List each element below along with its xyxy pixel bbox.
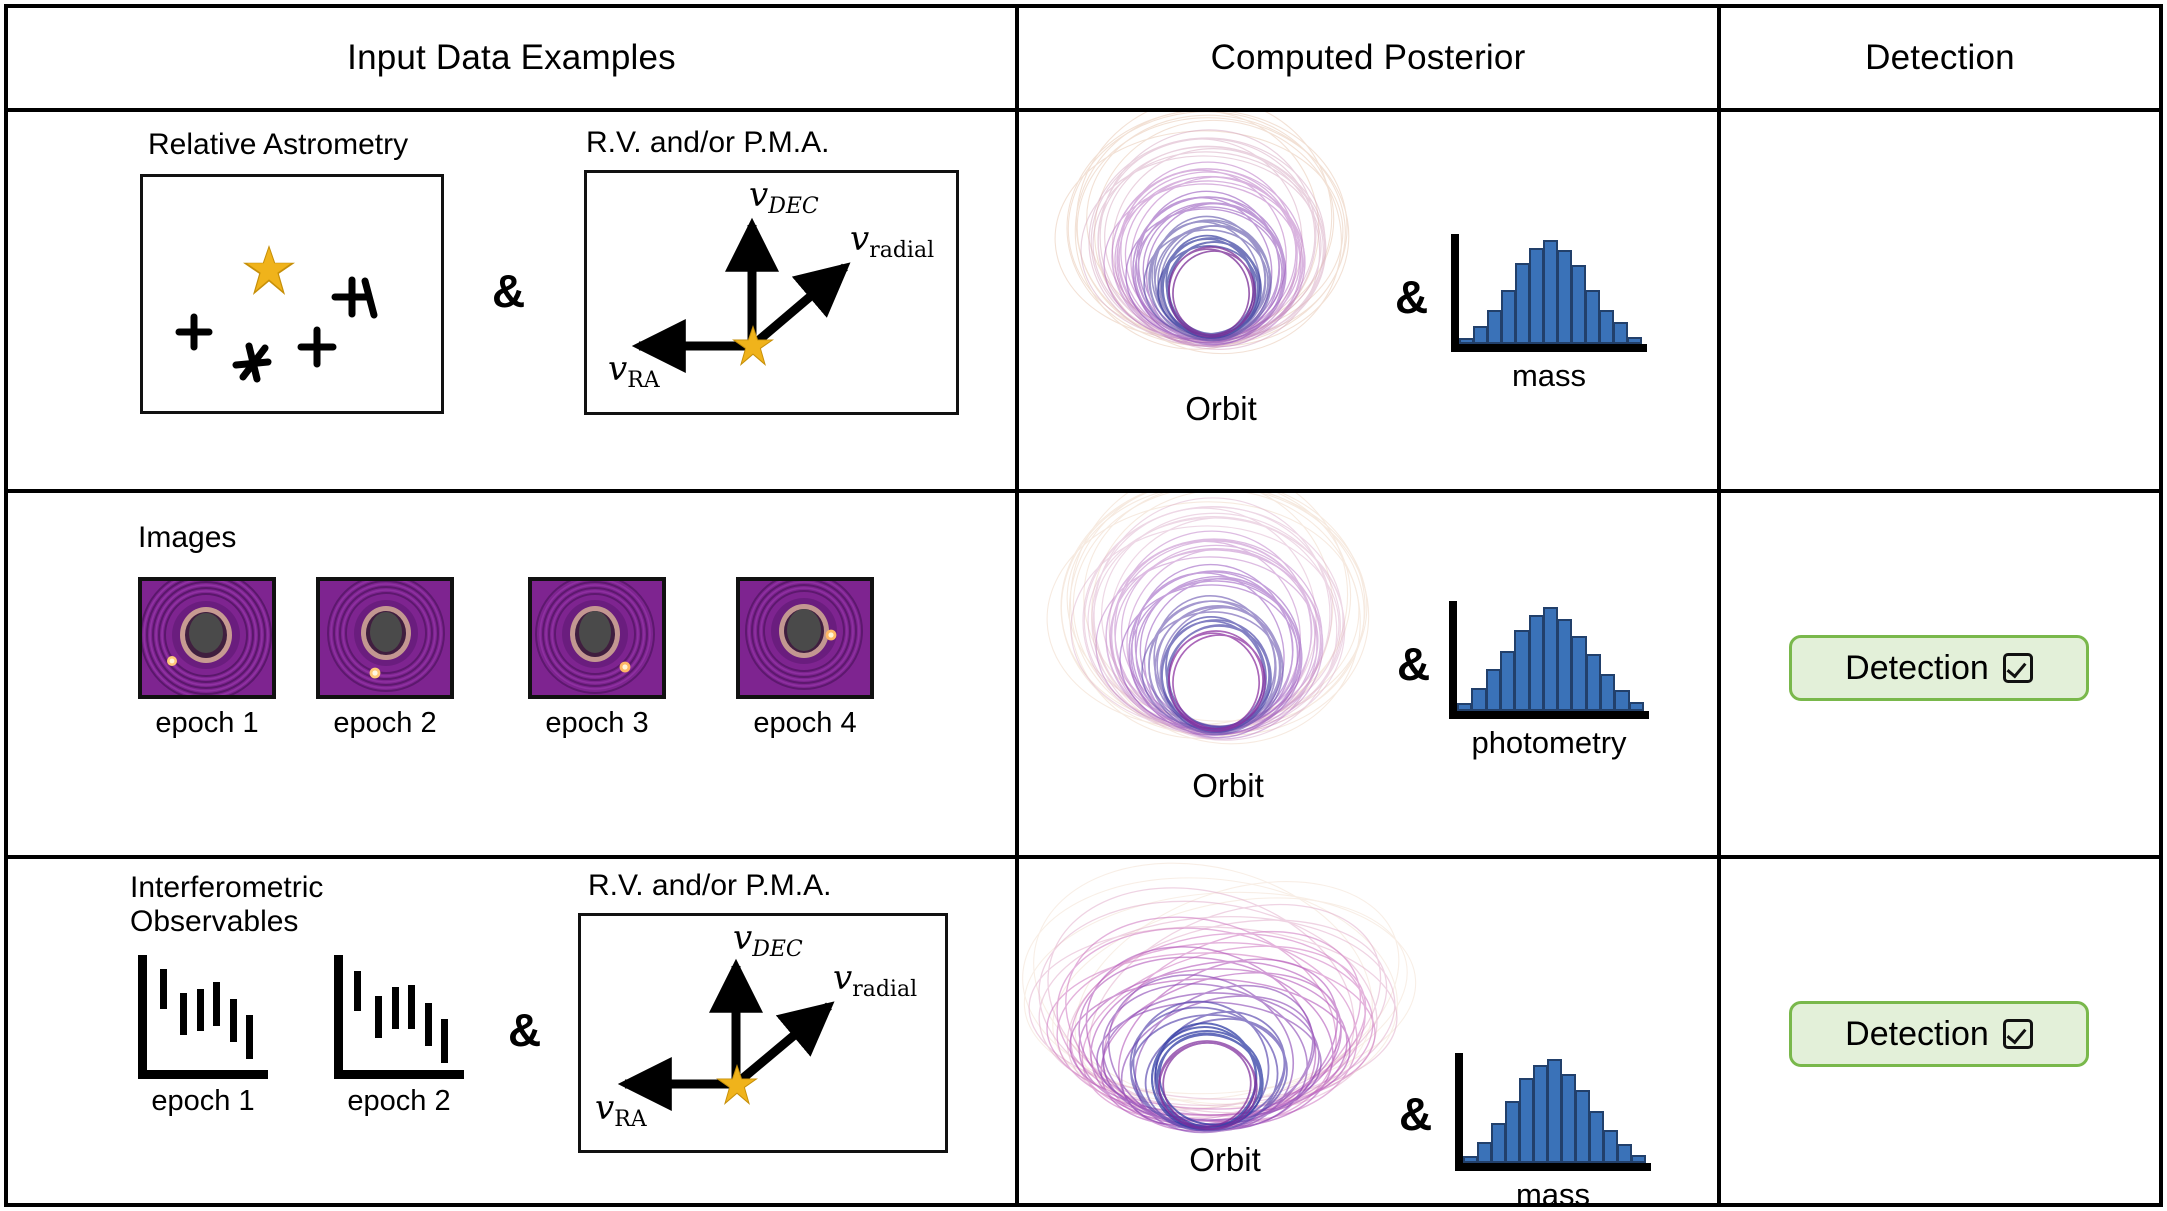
- histogram-bar: [1561, 1074, 1576, 1163]
- error-bar: [441, 1019, 448, 1063]
- row3-orbit-label: Orbit: [1019, 1141, 1445, 1179]
- row1-orbit-tracks: [1019, 112, 1431, 392]
- histogram-bar: [1599, 310, 1614, 344]
- row1-detection-cell: [1721, 112, 2159, 493]
- interferometric-x-axis: [138, 1070, 268, 1079]
- histogram-bar: [1459, 338, 1474, 344]
- row3-mass-histogram: mass: [1455, 1053, 1655, 1203]
- row2-detection-cell: Detection: [1721, 493, 2159, 859]
- figure-table: Input Data Examples Computed Posterior D…: [4, 4, 2163, 1207]
- row1-rv-pma-title: R.V. and/or P.M.A.: [586, 126, 829, 160]
- histogram-bar: [1529, 248, 1544, 344]
- histogram-bar: [1557, 250, 1572, 344]
- checkbox-checked-icon[interactable]: [2003, 653, 2033, 683]
- row1-conjunction-ampersand: &: [492, 264, 525, 318]
- histogram-bar: [1477, 1142, 1492, 1163]
- row1-histogram-label: mass: [1451, 358, 1647, 394]
- row2-orbit-label: Orbit: [1019, 767, 1443, 805]
- row1-v-ra-label: vRA: [608, 349, 660, 393]
- histogram-bar: [1471, 688, 1486, 711]
- error-bar: [408, 985, 415, 1029]
- row3-histogram-plot: [1455, 1053, 1651, 1171]
- histogram-bar: [1463, 1156, 1478, 1163]
- row3-detection-cell: Detection: [1721, 859, 2159, 1203]
- row1-orbit-plot: Orbit: [1019, 112, 1431, 428]
- row2-detection-label: Detection: [1845, 649, 1989, 688]
- row1-input-cell: Relative Astrometry: [8, 112, 1019, 493]
- header-label-input-data: Input Data Examples: [347, 38, 676, 78]
- coronagraph-image: [528, 577, 666, 699]
- error-bar: [160, 969, 167, 1009]
- companion-star-icon: [171, 309, 217, 355]
- coronagraph-image: [316, 577, 454, 699]
- histogram-bar: [1473, 326, 1488, 344]
- row3-interferometric-title: Interferometric Observables: [130, 871, 323, 938]
- coronagraph-speckles: [532, 581, 662, 695]
- histogram-bar: [1631, 1155, 1646, 1163]
- header-cell-computed-posterior: Computed Posterior: [1019, 8, 1721, 112]
- epoch-label: epoch 2: [334, 1085, 464, 1118]
- row3-v-dec-label: vDEC: [733, 918, 803, 962]
- histogram-bar: [1613, 322, 1628, 344]
- histogram-bar: [1600, 674, 1615, 711]
- row1-relative-astrometry-title: Relative Astrometry: [148, 128, 408, 162]
- row3-interferometric-epoch-1: epoch 1: [138, 955, 268, 1118]
- histogram-bar: [1589, 1111, 1604, 1163]
- row3-detection-label: Detection: [1845, 1015, 1989, 1054]
- histogram-bar: [1571, 636, 1586, 711]
- histogram-bar: [1617, 1144, 1632, 1163]
- row2-histogram-plot: [1449, 601, 1649, 719]
- epoch-label: epoch 4: [736, 707, 874, 740]
- row3-detection-badge[interactable]: Detection: [1789, 1001, 2089, 1067]
- row3-histogram-x-axis: [1455, 1163, 1651, 1171]
- row3-input-cell: Interferometric Observables epoch 1: [8, 859, 1019, 1203]
- coronagraph-image: [138, 577, 276, 699]
- epoch-label: epoch 1: [138, 707, 276, 740]
- row1-mass-histogram: mass: [1451, 234, 1651, 394]
- histogram-bar: [1575, 1090, 1590, 1163]
- header-label-computed-posterior: Computed Posterior: [1211, 38, 1526, 78]
- companion-star-icon: [227, 337, 279, 387]
- row2-epoch-4: epoch 4: [736, 577, 874, 740]
- row2-histogram-y-axis: [1449, 601, 1457, 719]
- error-bar: [425, 1003, 432, 1046]
- row3-histogram-y-axis: [1455, 1053, 1463, 1171]
- row3-rv-pma-frame: vDEC vradial vRA: [578, 913, 948, 1153]
- row3-posterior-cell: Orbit & mass: [1019, 859, 1721, 1203]
- checkbox-checked-icon[interactable]: [2003, 1019, 2033, 1049]
- interferometric-plot: [334, 955, 464, 1079]
- row2-photometry-histogram: photometry: [1449, 601, 1659, 761]
- epoch-label: epoch 1: [138, 1085, 268, 1118]
- row2-epoch-3: epoch 3: [528, 577, 666, 740]
- histogram-bar: [1571, 265, 1586, 344]
- histogram-bar: [1487, 310, 1502, 344]
- interferometric-y-axis: [138, 955, 147, 1079]
- row2-histogram-label: photometry: [1449, 725, 1649, 761]
- header-cell-input-data: Input Data Examples: [8, 8, 1019, 112]
- row2-posterior-cell: Orbit & photometry: [1019, 493, 1721, 859]
- error-bar: [246, 1015, 253, 1059]
- histogram-bar: [1557, 619, 1572, 711]
- row3-conjunction-ampersand: &: [508, 1003, 541, 1057]
- histogram-bar: [1486, 669, 1501, 711]
- interferometric-plot: [138, 955, 268, 1079]
- row1-relative-astrometry-frame: [140, 174, 444, 414]
- histogram-bar: [1627, 337, 1642, 344]
- histogram-bar: [1491, 1123, 1506, 1163]
- histogram-bar: [1501, 290, 1516, 344]
- error-bar: [180, 993, 187, 1035]
- row3-interferometric-epoch-2: epoch 2: [334, 955, 464, 1118]
- error-bar: [230, 999, 237, 1042]
- row2-posterior-conjunction-ampersand: &: [1397, 637, 1430, 691]
- companion-star-icon: [325, 271, 379, 323]
- epoch-label: epoch 3: [528, 707, 666, 740]
- row3-v-radial-label: vradial: [833, 958, 917, 1002]
- header-label-detection: Detection: [1865, 38, 2015, 78]
- coronagraph-speckles: [142, 581, 272, 695]
- row1-v-dec-label: vDEC: [749, 175, 819, 219]
- row1-orbit-label: Orbit: [1019, 390, 1431, 428]
- header-cell-detection: Detection: [1721, 8, 2159, 112]
- row1-v-radial-label: vradial: [850, 219, 934, 263]
- histogram-bar: [1586, 654, 1601, 711]
- row2-orbit-plot: Orbit: [1019, 493, 1443, 805]
- error-bar: [213, 982, 220, 1026]
- error-bar: [392, 987, 399, 1029]
- histogram-bar: [1547, 1059, 1562, 1163]
- histogram-bar: [1533, 1065, 1548, 1163]
- histogram-bar: [1514, 630, 1529, 711]
- histogram-bar: [1505, 1101, 1520, 1163]
- row1-rv-pma-frame: vDEC vradial vRA: [584, 170, 959, 415]
- error-bar: [197, 989, 204, 1031]
- row3-histogram-label: mass: [1455, 1177, 1651, 1203]
- epoch-label: epoch 2: [316, 707, 454, 740]
- row3-v-ra-label: vRA: [595, 1088, 647, 1132]
- histogram-bar: [1543, 607, 1558, 711]
- row1-posterior-cell: Orbit & mass: [1019, 112, 1721, 493]
- companion-star-icon: [293, 323, 341, 371]
- row3-orbit-tracks: [1019, 859, 1445, 1143]
- histogram-bar: [1629, 702, 1644, 711]
- row3-orbit-plot: Orbit: [1019, 859, 1445, 1179]
- row2-orbit-tracks: [1019, 493, 1443, 769]
- row1-histogram-y-axis: [1451, 234, 1459, 352]
- histogram-bar: [1543, 240, 1558, 344]
- row2-detection-badge[interactable]: Detection: [1789, 635, 2089, 701]
- histogram-bar: [1529, 615, 1544, 711]
- histogram-bar: [1585, 290, 1600, 344]
- interferometric-y-axis: [334, 955, 343, 1079]
- row2-input-cell: Images: [8, 493, 1019, 859]
- row2-epoch-1: epoch 1: [138, 577, 276, 740]
- row1-posterior-conjunction-ampersand: &: [1395, 270, 1428, 324]
- coronagraph-image: [736, 577, 874, 699]
- histogram-bar: [1603, 1130, 1618, 1163]
- row1-histogram-plot: [1451, 234, 1647, 352]
- row2-histogram-x-axis: [1449, 711, 1649, 719]
- histogram-bar: [1500, 651, 1515, 711]
- error-bar: [375, 996, 382, 1038]
- error-bar: [354, 971, 361, 1011]
- coronagraph-speckles: [320, 581, 450, 695]
- interferometric-x-axis: [334, 1070, 464, 1079]
- row3-posterior-conjunction-ampersand: &: [1399, 1087, 1432, 1141]
- row1-histogram-x-axis: [1451, 344, 1647, 352]
- coronagraph-speckles: [740, 581, 870, 695]
- histogram-bar: [1614, 690, 1629, 711]
- row2-epoch-2: epoch 2: [316, 577, 454, 740]
- histogram-bar: [1515, 263, 1530, 344]
- histogram-bar: [1457, 703, 1472, 711]
- row3-rv-pma-title: R.V. and/or P.M.A.: [588, 869, 831, 903]
- histogram-bar: [1519, 1078, 1534, 1163]
- row2-images-title: Images: [138, 521, 236, 555]
